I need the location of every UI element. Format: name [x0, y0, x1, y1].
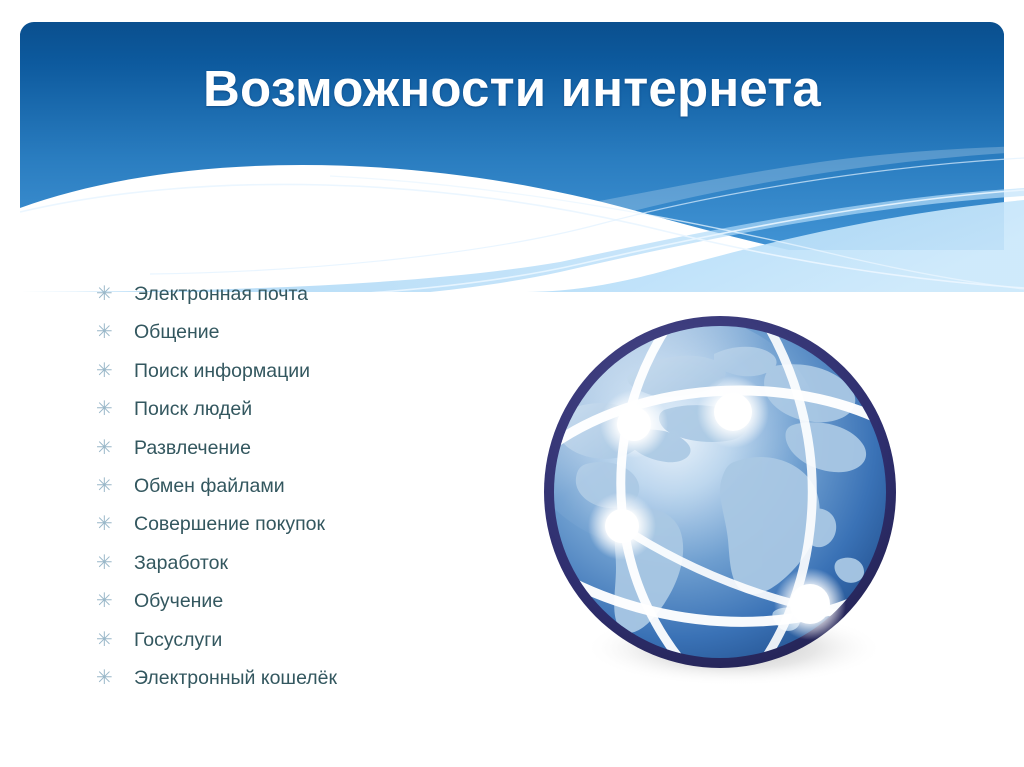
- network-globe-icon: [538, 314, 902, 686]
- list-item[interactable]: ✳ Поиск людей: [96, 398, 516, 436]
- page-title: Возможности интернета: [20, 62, 1004, 116]
- list-item-label: Госуслуги: [134, 631, 222, 651]
- list-item-label: Общение: [134, 323, 220, 343]
- list-item[interactable]: ✳ Обмен файлами: [96, 475, 516, 513]
- list-item-label: Поиск людей: [134, 400, 252, 420]
- asterisk-bullet-icon: ✳: [96, 667, 134, 687]
- asterisk-bullet-icon: ✳: [96, 629, 134, 649]
- list-item-label: Электронный кошелёк: [134, 669, 337, 689]
- list-item-label: Обмен файлами: [134, 477, 285, 497]
- list-item[interactable]: ✳ Совершение покупок: [96, 513, 516, 551]
- asterisk-bullet-icon: ✳: [96, 360, 134, 380]
- list-item[interactable]: ✳ Заработок: [96, 552, 516, 590]
- list-item-label: Обучение: [134, 592, 223, 612]
- list-item-label: Развлечение: [134, 439, 251, 459]
- feature-list: ✳ Электронная почта ✳ Общение ✳ Поиск ин…: [96, 283, 516, 705]
- list-item-label: Совершение покупок: [134, 515, 325, 535]
- list-item-label: Поиск информации: [134, 362, 310, 382]
- asterisk-bullet-icon: ✳: [96, 321, 134, 341]
- header-banner: [0, 0, 1024, 292]
- list-item[interactable]: ✳ Обучение: [96, 590, 516, 628]
- list-item[interactable]: ✳ Поиск информации: [96, 360, 516, 398]
- list-item[interactable]: ✳ Общение: [96, 321, 516, 359]
- list-item[interactable]: ✳ Электронный кошелёк: [96, 667, 516, 705]
- asterisk-bullet-icon: ✳: [96, 513, 134, 533]
- list-item[interactable]: ✳ Госуслуги: [96, 629, 516, 667]
- list-item[interactable]: ✳ Развлечение: [96, 437, 516, 475]
- asterisk-bullet-icon: ✳: [96, 552, 134, 572]
- list-item-label: Электронная почта: [134, 285, 308, 305]
- asterisk-bullet-icon: ✳: [96, 475, 134, 495]
- asterisk-bullet-icon: ✳: [96, 283, 134, 303]
- list-item[interactable]: ✳ Электронная почта: [96, 283, 516, 321]
- asterisk-bullet-icon: ✳: [96, 437, 134, 457]
- asterisk-bullet-icon: ✳: [96, 590, 134, 610]
- asterisk-bullet-icon: ✳: [96, 398, 134, 418]
- list-item-label: Заработок: [134, 554, 228, 574]
- slide-canvas: Возможности интернета ✳ Электронная почт…: [0, 0, 1024, 767]
